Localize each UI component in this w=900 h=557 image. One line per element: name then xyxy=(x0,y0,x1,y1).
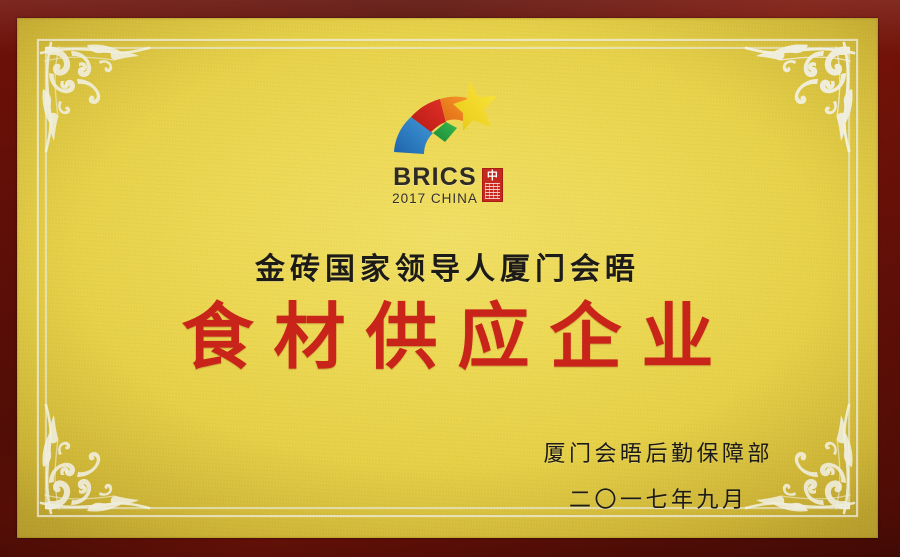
award-plaque: BRICS 2017 CHINA 中 金砖国家领导人厦门会晤 食材供应企业 厦门… xyxy=(0,0,900,557)
brics-wordmark: BRICS 2017 CHINA 中 xyxy=(392,165,503,206)
china-seal-pattern xyxy=(485,183,500,199)
ornate-corner-filigree-icon xyxy=(25,397,157,529)
plaque-title: 食材供应企业 xyxy=(17,299,878,375)
issuer-date: 二〇一七年九月 xyxy=(540,482,773,514)
issuer-organization: 厦门会晤后勤保障部 xyxy=(540,436,773,468)
brics-emblem: BRICS 2017 CHINA 中 xyxy=(17,72,878,206)
brics-wordmark-text: BRICS xyxy=(393,165,477,190)
brics-year-country-text: 2017 CHINA xyxy=(392,192,478,206)
gold-plate: BRICS 2017 CHINA 中 金砖国家领导人厦门会晤 食材供应企业 厦门… xyxy=(17,18,878,538)
brics-text-column: BRICS 2017 CHINA xyxy=(392,165,478,206)
china-seal-icon: 中 xyxy=(482,168,503,202)
plaque-subtitle: 金砖国家领导人厦门会晤 xyxy=(17,244,878,288)
issuer-block: 厦门会晤后勤保障部 二〇一七年九月 xyxy=(540,436,773,514)
brics-swoosh-icon xyxy=(389,72,507,164)
china-seal-character: 中 xyxy=(487,170,498,181)
